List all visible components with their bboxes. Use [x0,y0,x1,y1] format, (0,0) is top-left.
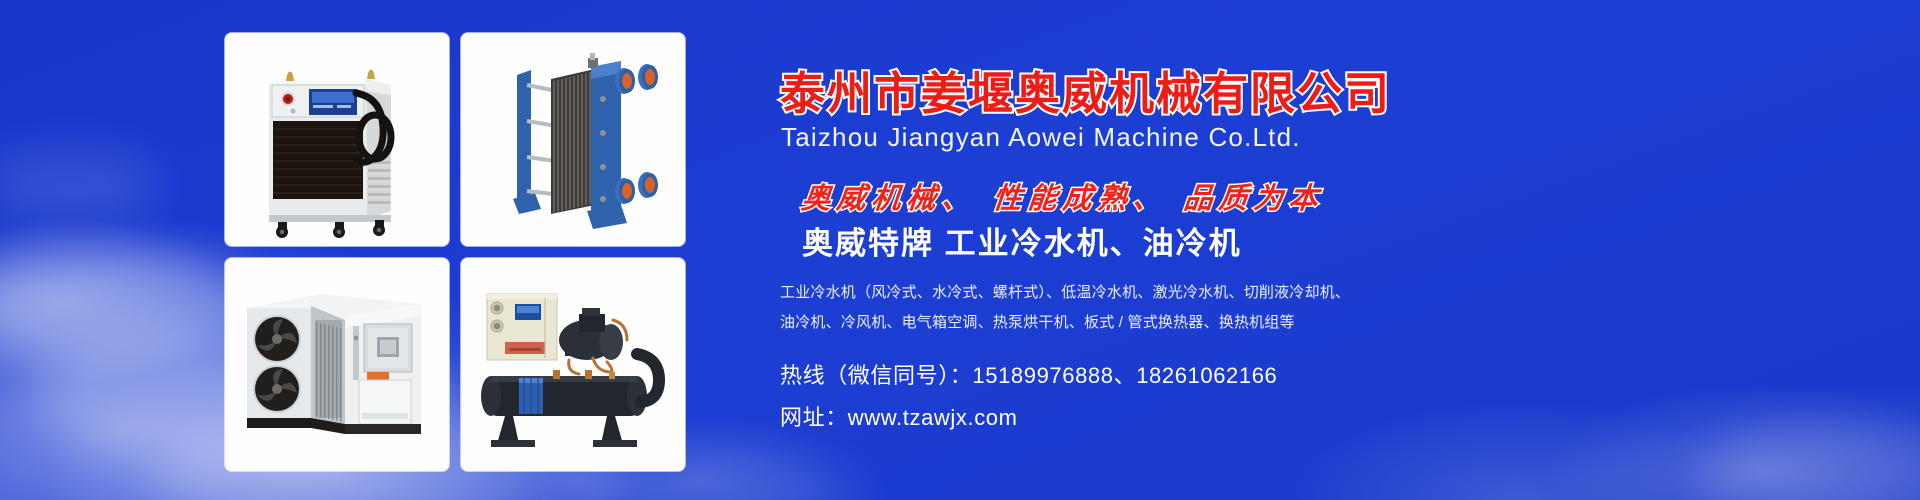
product-description: 工业冷水机（风冷式、水冷式、螺杆式）、低温冷水机、激光冷水机、切削液冷却机、 油… [780,278,1420,338]
brand-product-line: 奥威特牌 工业冷水机、油冷机 [802,218,1242,263]
product-photo-water-cooled-screw-chiller[interactable] [461,258,685,471]
cloud-decoration [0,150,160,220]
contact-block: 热线（微信同号）：15189976888、18261062166 网址：www.… [780,355,1420,439]
product-description-line-2: 油冷机、冷风机、电气箱空调、热泵烘干机、板式 / 管式换热器、换热机组等 [780,308,1420,338]
product-photo-plate-heat-exchanger[interactable] [461,33,685,246]
company-title-en: Taizhou Jiangyan Aowei Machine Co.Ltd. [781,122,1301,153]
company-slogan: 奥威机械、 性能成熟、 品质为本 [800,175,1327,217]
company-info-panel: 泰州市姜堰奥威机械有限公司 Taizhou Jiangyan Aowei Mac… [780,0,1780,500]
product-photo-air-cooled-heat-pump-dryer[interactable] [225,258,449,471]
hotline-text: 热线（微信同号）：15189976888、18261062166 [780,355,1420,397]
product-photo-industrial-chiller[interactable] [225,33,449,246]
product-description-line-1: 工业冷水机（风冷式、水冷式、螺杆式）、低温冷水机、激光冷水机、切削液冷却机、 [780,278,1420,308]
company-banner: 泰州市姜堰奥威机械有限公司 Taizhou Jiangyan Aowei Mac… [0,0,1920,500]
cloud-decoration [0,250,260,360]
website-text[interactable]: 网址：www.tzawjx.com [780,397,1420,439]
company-title-cn: 泰州市姜堰奥威机械有限公司 [780,57,1391,122]
product-photo-grid [225,33,685,467]
